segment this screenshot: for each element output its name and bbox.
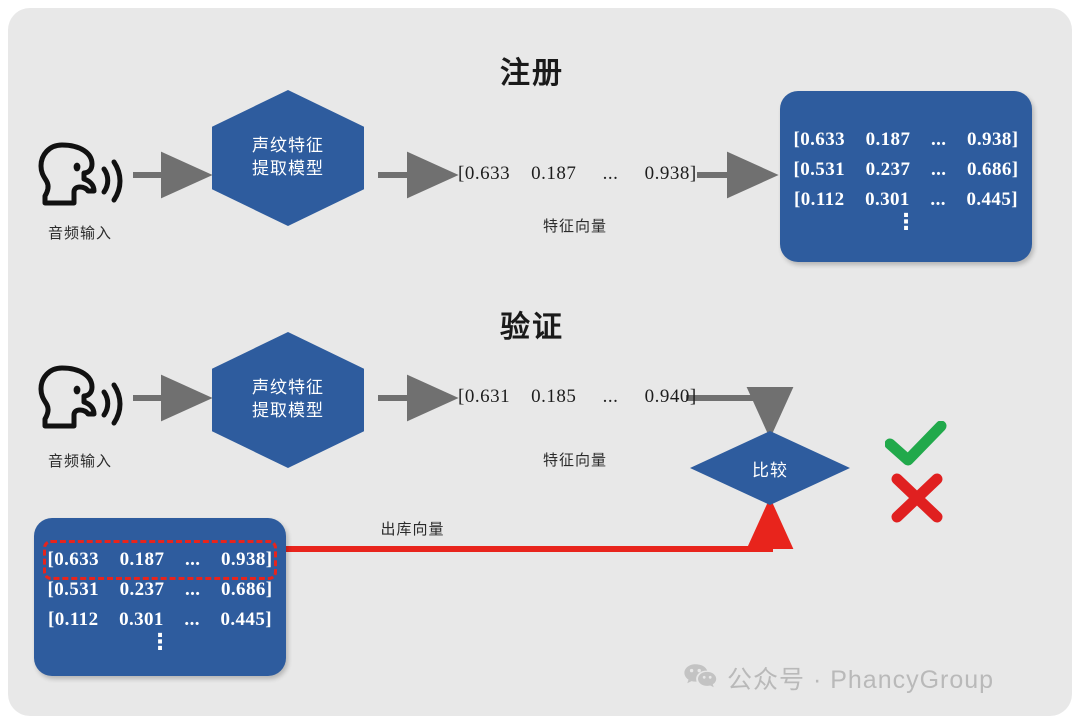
model-label: 声纹特征 提取模型 xyxy=(252,377,324,423)
feature-vector-caption-verification: 特征向量 xyxy=(455,449,695,470)
green-check-icon xyxy=(885,421,947,472)
voiceprint-database-box: [0.633 0.187 ... 0.938] [0.531 0.237 ...… xyxy=(780,91,1032,262)
compare-label: 比较 xyxy=(752,456,788,481)
model-label: 声纹特征 提取模型 xyxy=(252,135,324,181)
feature-vector-caption-registration: 特征向量 xyxy=(455,215,695,236)
audio-input-label-verification: 音频输入 xyxy=(20,450,140,471)
speaking-head-icon xyxy=(30,356,130,441)
registration-feature-vector: [0.633 0.187 ... 0.938] xyxy=(458,163,697,185)
database-ellipsis: ⋮ xyxy=(895,215,917,228)
database-ellipsis: ⋮ xyxy=(149,635,171,648)
footer-watermark: 公众号 · PhancyGroup xyxy=(683,660,994,696)
database-row: [0.112 0.301 ... 0.445] xyxy=(794,185,1018,215)
verification-section-title: 验证 xyxy=(0,302,1064,346)
database-row: [0.633 0.187 ... 0.938] xyxy=(794,125,1019,155)
registration-section-title: 注册 xyxy=(0,48,1064,92)
database-row: [0.112 0.301 ... 0.445] xyxy=(48,605,272,635)
database-row: [0.531 0.237 ... 0.686] xyxy=(48,575,273,605)
red-cross-icon xyxy=(890,473,944,528)
voiceprint-database-box-verification: [0.633 0.187 ... 0.938] [0.531 0.237 ...… xyxy=(34,518,286,676)
verification-feature-vector: [0.631 0.185 ... 0.940] xyxy=(458,386,697,408)
speaking-head-icon xyxy=(30,133,130,218)
database-row-highlighted: [0.633 0.187 ... 0.938] xyxy=(48,545,273,575)
database-row: [0.531 0.237 ... 0.686] xyxy=(794,155,1019,185)
audio-input-label-registration: 音频输入 xyxy=(20,222,140,243)
retrieved-vector-label: 出库向量 xyxy=(340,518,485,539)
watermark-text: 公众号 · PhancyGroup xyxy=(727,660,994,696)
wechat-logo-icon xyxy=(683,662,717,695)
diagram-canvas: 注册 音频输入 声纹特征 提取模型 [0.633 0.187 ... 0.938… xyxy=(0,0,1080,724)
